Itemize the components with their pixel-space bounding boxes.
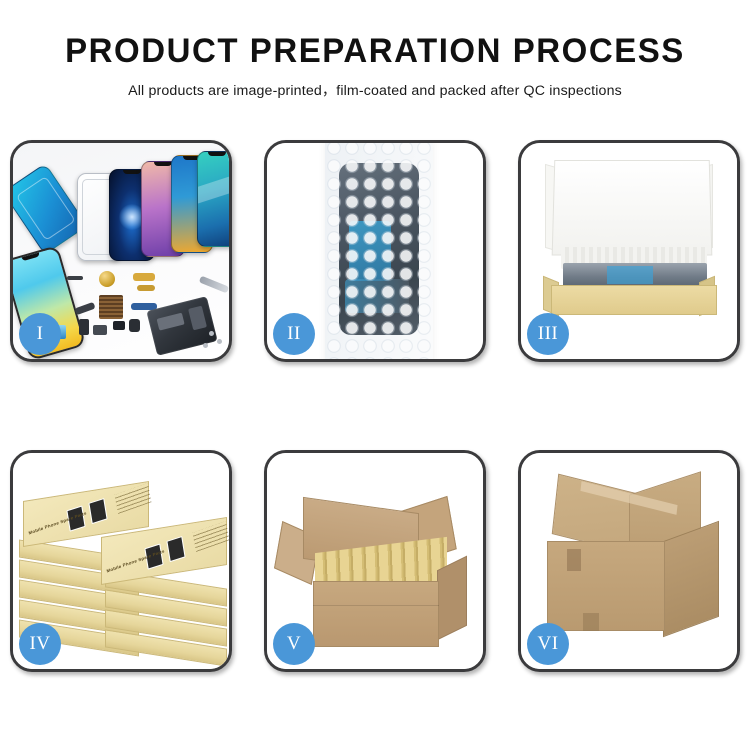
- box-print-screen-4: [88, 498, 107, 524]
- product-preparation-page: PRODUCT PREPARATION PROCESS All products…: [0, 0, 750, 750]
- bubble-wrap-sheet: [325, 143, 433, 359]
- phone-display-green: [197, 151, 229, 247]
- page-header: PRODUCT PREPARATION PROCESS All products…: [0, 0, 750, 100]
- sealed-carton-front: [547, 541, 665, 631]
- bubble-highlights: [325, 143, 433, 359]
- step-panel-v: V: [264, 450, 486, 672]
- page-title: PRODUCT PREPARATION PROCESS: [11, 34, 739, 70]
- part-mesh-grid: [99, 295, 123, 319]
- box-print-textlines-1: [114, 483, 151, 514]
- page-subtitle: All products are image-printed，film-coat…: [0, 80, 750, 100]
- part-screw-3: [203, 343, 208, 348]
- step-badge-iii: III: [527, 313, 569, 355]
- carton-front-seam: [313, 605, 439, 606]
- step-badge-iv: IV: [19, 623, 61, 665]
- step-badge-v: V: [273, 623, 315, 665]
- sealed-carton-side: [663, 521, 719, 637]
- step-panel-iv: Mobile Phone Spare Parts Mobile Phone Sp…: [10, 450, 232, 672]
- step-badge-i: I: [19, 313, 61, 355]
- part-chip: [113, 321, 125, 330]
- step-badge-ii: II: [273, 313, 315, 355]
- step-panel-i: I: [10, 140, 232, 362]
- box-print-textlines-2: [192, 521, 229, 552]
- part-flex-cable-1: [133, 273, 155, 281]
- step-panel-iii: III: [518, 140, 740, 362]
- part-speaker: [99, 271, 115, 287]
- part-connector-1: [79, 319, 89, 335]
- part-connector-2: [93, 325, 107, 335]
- carton-side-right: [437, 556, 467, 641]
- part-screw-1: [209, 331, 214, 336]
- part-flex-cable-2: [137, 285, 155, 291]
- sealed-carton-tape-patch-1: [567, 549, 581, 571]
- step-panel-ii: II: [264, 140, 486, 362]
- carton-front-panel: [313, 581, 439, 647]
- part-screw-2: [217, 339, 222, 344]
- box-lid-back: [552, 160, 713, 256]
- box-print-screen-2: [166, 536, 185, 562]
- part-tweezers: [199, 276, 229, 294]
- part-camera-module: [129, 319, 140, 332]
- part-flex-cable-4: [74, 302, 95, 315]
- part-antenna-bar: [67, 276, 83, 280]
- step-panel-vi: VI: [518, 450, 740, 672]
- box-front-panel: [551, 285, 717, 315]
- process-steps-grid: I II: [10, 140, 740, 672]
- sealed-carton-tape-patch-2: [583, 613, 599, 631]
- step-badge-vi: VI: [527, 623, 569, 665]
